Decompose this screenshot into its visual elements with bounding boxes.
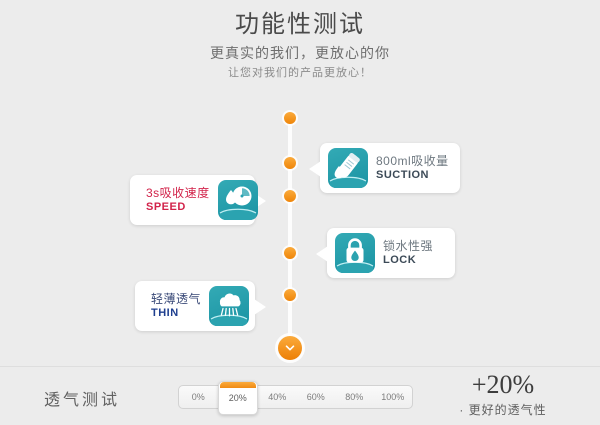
timeline-dot-5 (284, 289, 296, 301)
water-drop-clock-icon (218, 180, 258, 220)
slider-option-60[interactable]: 60% (297, 386, 336, 408)
slider-option-100[interactable]: 100% (374, 386, 413, 408)
page-subtitle: 更真实的我们，更放心的你 (0, 42, 600, 64)
feature-label-cn: 800ml吸收量 (376, 154, 449, 169)
test-tube-icon (328, 148, 368, 188)
feature-label-en: SUCTION (376, 169, 449, 183)
feature-label-en: LOCK (383, 254, 433, 268)
feature-card-suction[interactable]: 800ml吸收量 SUCTION (320, 143, 460, 193)
card-tail (254, 299, 266, 315)
page-title: 功能性测试 (0, 8, 600, 42)
chevron-down-icon (283, 341, 297, 355)
feature-card-text: 3s吸收速度 SPEED (138, 186, 218, 215)
slider-option-20[interactable]: 20% (218, 381, 259, 415)
timeline-dot-4 (284, 247, 296, 259)
timeline-end-button[interactable] (278, 336, 302, 360)
slider-option-40[interactable]: 40% (258, 386, 297, 408)
feature-card-text: 800ml吸收量 SUCTION (368, 154, 457, 183)
footer-divider (0, 366, 600, 367)
timeline-dot-3 (284, 190, 296, 202)
feature-label-cn: 锁水性强 (383, 239, 433, 254)
timeline (288, 112, 292, 358)
feature-card-speed[interactable]: 3s吸收速度 SPEED (130, 175, 255, 225)
feature-card-lock[interactable]: 锁水性强 LOCK (327, 228, 455, 278)
padlock-drop-icon (335, 233, 375, 273)
feature-card-text: 锁水性强 LOCK (375, 239, 441, 268)
feature-label-en: THIN (151, 307, 201, 321)
slider-option-80[interactable]: 80% (335, 386, 374, 408)
breathability-test-label: 透气测试 (44, 386, 120, 410)
feature-label-en: SPEED (146, 201, 210, 215)
page-header: 功能性测试 更真实的我们，更放心的你 让您对我们的产品更放心！ (0, 8, 600, 82)
feature-label-cn: 轻薄透气 (151, 292, 201, 307)
timeline-line (288, 118, 292, 356)
breathability-stat: +20% · 更好的透气性 (428, 370, 578, 420)
timeline-dot-1 (284, 112, 296, 124)
feature-card-text: 轻薄透气 THIN (143, 292, 209, 321)
stat-note: · 更好的透气性 (428, 400, 578, 420)
slider-option-0[interactable]: 0% (179, 386, 218, 408)
breathability-slider[interactable]: 0% 20% 40% 60% 80% 100% (178, 385, 413, 409)
feature-card-thin[interactable]: 轻薄透气 THIN (135, 281, 255, 331)
card-tail (316, 246, 328, 262)
feature-label-cn: 3s吸收速度 (146, 186, 210, 201)
vapor-cloud-icon (209, 286, 249, 326)
stat-value: +20% (428, 370, 578, 400)
card-tail (309, 161, 321, 177)
page-tagline: 让您对我们的产品更放心！ (0, 64, 600, 82)
timeline-dot-2 (284, 157, 296, 169)
